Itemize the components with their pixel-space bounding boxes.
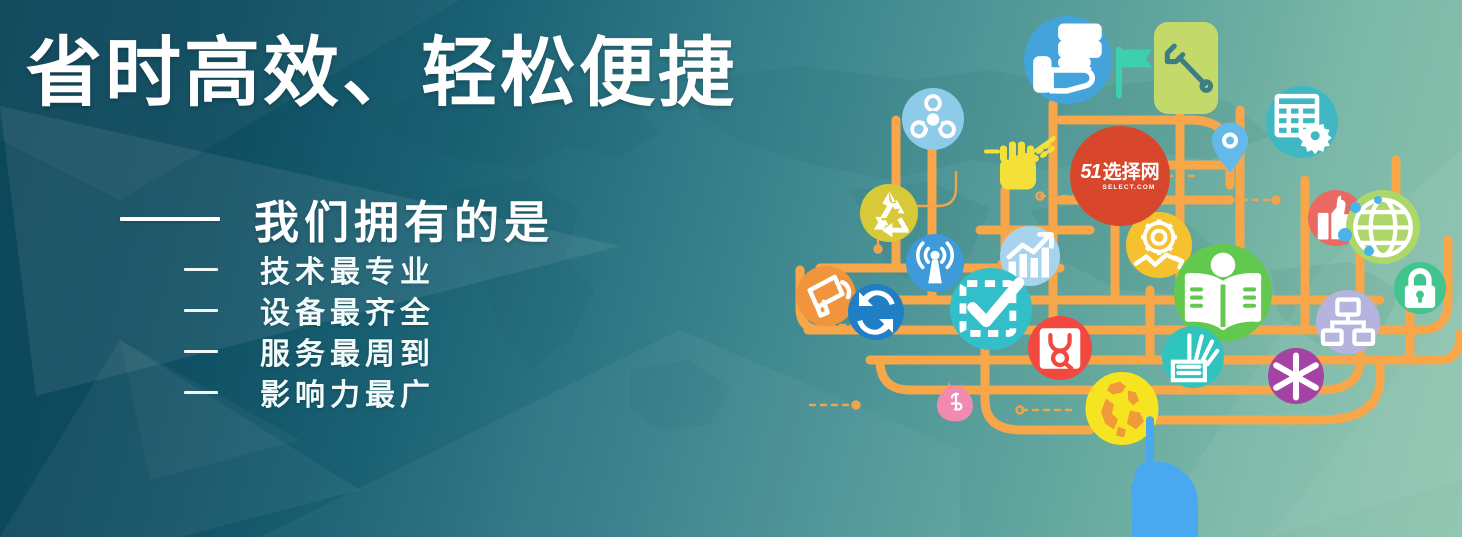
sync-icon	[848, 284, 904, 340]
decor-dot-icon	[1374, 196, 1382, 204]
lock-icon	[1394, 262, 1446, 314]
logo-number: 51	[1080, 162, 1100, 182]
infographic-network: 51 选择网 SELECT.COM	[760, 0, 1462, 537]
bullet-dash-icon	[184, 350, 218, 353]
megaphone-icon	[796, 266, 856, 326]
bullet-dash-icon	[184, 268, 218, 271]
decor-dot-icon	[1364, 246, 1374, 256]
subtitle-row: 我们拥有的是	[120, 186, 554, 251]
list-item: 影响力最广	[184, 373, 435, 411]
bullet-dash-icon	[184, 309, 218, 312]
logo-name: 选择网	[1103, 163, 1160, 182]
pointing-hand-icon	[1112, 412, 1208, 537]
search-analysis-icon	[1028, 316, 1092, 380]
asterisk-icon	[1268, 348, 1324, 404]
list-item-label: 技术最专业	[260, 247, 435, 291]
list-item: 技术最专业	[184, 250, 435, 288]
list-item-label: 影响力最广	[260, 370, 435, 414]
brand-logo[interactable]: 51 选择网 SELECT.COM	[1070, 126, 1170, 226]
money-bag-icon	[934, 378, 978, 424]
promotional-banner: 省时高效、轻松便捷 我们拥有的是 技术最专业 设备最齐全 服务最周到 影响力最广	[0, 0, 1462, 537]
feature-list: 技术最专业 设备最齐全 服务最周到 影响力最广	[184, 250, 435, 411]
list-item-label: 设备最齐全	[260, 288, 435, 332]
bullet-dash-icon	[184, 391, 218, 394]
list-item: 服务最周到	[184, 332, 435, 370]
page-title: 省时高效、轻松便捷	[26, 34, 737, 115]
subtitle-text: 我们拥有的是	[254, 186, 554, 251]
decor-dot-icon	[1338, 228, 1352, 242]
decor-dot-icon	[1350, 202, 1361, 213]
subtitle-dash	[120, 217, 220, 221]
logo-wordmark: 51 选择网	[1080, 162, 1159, 182]
list-item: 设备最齐全	[184, 291, 435, 329]
list-item-label: 服务最周到	[260, 329, 435, 373]
sitemap-icon	[1316, 290, 1380, 354]
logo-domain: SELECT.COM	[1103, 184, 1156, 191]
